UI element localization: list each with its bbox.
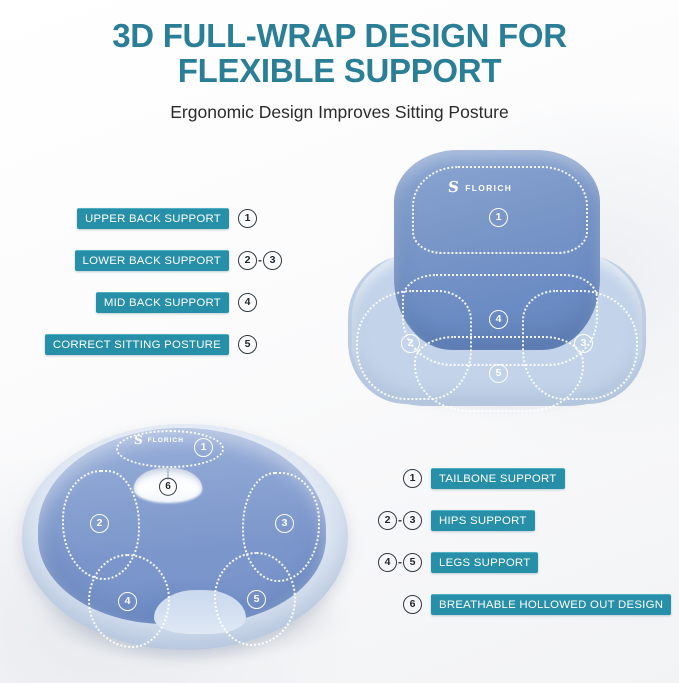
page-subtitle: Ergonomic Design Improves Sitting Postur… <box>0 102 679 122</box>
feature-label-badge: LOWER BACK SUPPORT <box>75 250 229 271</box>
seat-feature-list: 1 TAILBONE SUPPORT 2 - 3 HIPS SUPPORT 4 … <box>378 468 679 636</box>
range-separator: - <box>258 253 262 267</box>
zone-number-2: 2 <box>90 514 109 533</box>
brand-logo: S FLORICH <box>134 434 184 446</box>
feature-label-badge: TAILBONE SUPPORT <box>431 468 565 489</box>
zone-number-4: 4 <box>118 592 137 611</box>
seat-cushion-image: S FLORICH 1 2 3 4 5 6 <box>22 412 362 668</box>
infographic-page: 3D FULL-WRAP DESIGN FOR FLEXIBLE SUPPORT… <box>0 0 679 683</box>
feature-label-badge: HIPS SUPPORT <box>431 510 535 531</box>
feature-label-badge: UPPER BACK SUPPORT <box>77 208 229 229</box>
zone-number-1: 1 <box>489 208 508 227</box>
circled-number: 1 <box>403 469 422 488</box>
feature-number-group: 1 <box>378 469 422 488</box>
title-line-2: FLEXIBLE SUPPORT <box>0 53 679 88</box>
circled-number: 5 <box>403 553 422 572</box>
back-cushion-image: S FLORICH 1 4 2 3 5 <box>352 150 642 430</box>
feature-number-group: 1 <box>238 209 284 228</box>
title-line-1: 3D FULL-WRAP DESIGN FOR <box>112 17 567 54</box>
feature-row: CORRECT SITTING POSTURE 5 <box>0 334 300 354</box>
feature-number-group: 4 - 5 <box>378 553 422 572</box>
brand-name: FLORICH <box>148 437 184 444</box>
circled-number: 4 <box>238 293 257 312</box>
zone-number-5: 5 <box>247 590 266 609</box>
feature-number-group: 5 <box>238 335 284 354</box>
zone-number-6: 6 <box>159 478 177 496</box>
circled-number: 3 <box>263 251 282 270</box>
circled-number: 3 <box>403 511 422 530</box>
feature-row: 1 TAILBONE SUPPORT <box>378 468 679 488</box>
zone-number-3: 3 <box>275 514 294 533</box>
circled-number: 2 <box>238 251 257 270</box>
circled-number: 4 <box>378 553 397 572</box>
feature-number-group: 6 <box>378 595 422 614</box>
feature-row: 2 - 3 HIPS SUPPORT <box>378 510 679 530</box>
feature-number-group: 2 - 3 <box>238 251 284 270</box>
feature-number-group: 2 - 3 <box>378 511 422 530</box>
zone-number-3: 3 <box>574 334 593 353</box>
circled-number: 1 <box>238 209 257 228</box>
brand-name: FLORICH <box>465 183 512 193</box>
brand-mark-icon: S <box>447 180 461 195</box>
feature-label-badge: MID BACK SUPPORT <box>96 292 229 313</box>
zone-number-4: 4 <box>489 310 508 329</box>
zone-number-1: 1 <box>194 438 213 457</box>
zone-number-2: 2 <box>401 334 420 353</box>
range-separator: - <box>398 513 402 527</box>
feature-number-group: 4 <box>238 293 284 312</box>
feature-row: UPPER BACK SUPPORT 1 <box>0 208 300 228</box>
feature-label-badge: BREATHABLE HOLLOWED OUT DESIGN <box>431 594 671 615</box>
range-separator: - <box>398 555 402 569</box>
page-title: 3D FULL-WRAP DESIGN FOR FLEXIBLE SUPPORT <box>0 18 679 88</box>
feature-row: 4 - 5 LEGS SUPPORT <box>378 552 679 572</box>
feature-row: 6 BREATHABLE HOLLOWED OUT DESIGN <box>378 594 679 614</box>
circled-number: 6 <box>403 595 422 614</box>
feature-row: MID BACK SUPPORT 4 <box>0 292 300 312</box>
back-feature-list: UPPER BACK SUPPORT 1 LOWER BACK SUPPORT … <box>0 208 300 376</box>
feature-row: LOWER BACK SUPPORT 2 - 3 <box>0 250 300 270</box>
brand-logo: S FLORICH <box>448 180 512 195</box>
circled-number: 2 <box>378 511 397 530</box>
zone-number-5: 5 <box>489 364 508 383</box>
breathable-hollow-cutout: 6 <box>134 468 202 502</box>
feature-label-badge: CORRECT SITTING POSTURE <box>45 334 229 355</box>
brand-mark-icon: S <box>133 434 144 446</box>
feature-label-badge: LEGS SUPPORT <box>431 552 538 573</box>
circled-number: 5 <box>238 335 257 354</box>
header: 3D FULL-WRAP DESIGN FOR FLEXIBLE SUPPORT… <box>0 18 679 122</box>
